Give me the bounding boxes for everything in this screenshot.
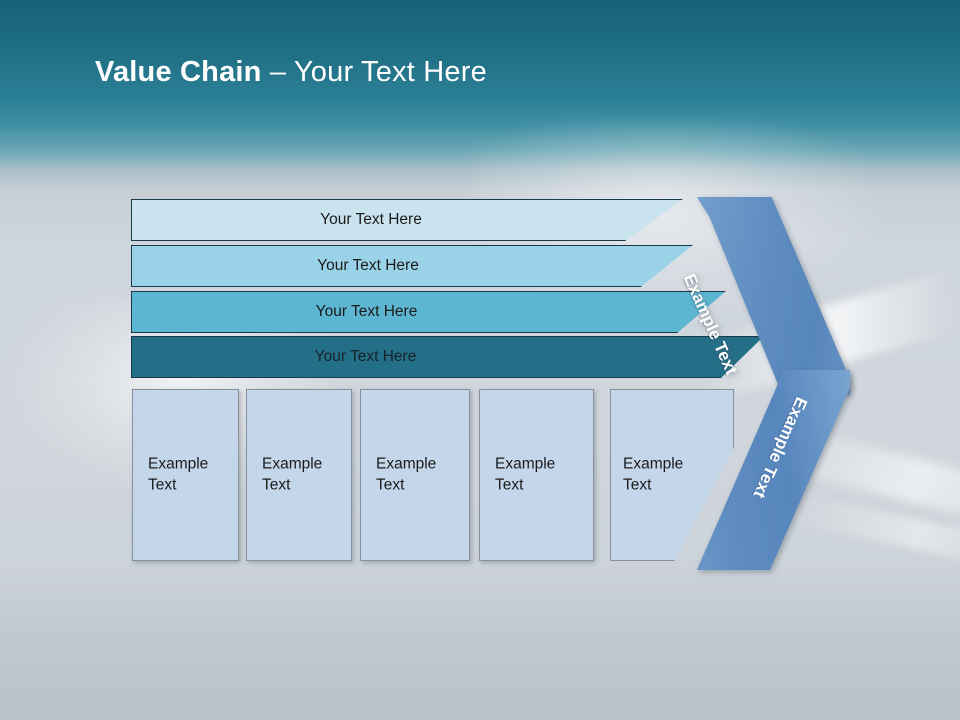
value-chain-box-4[interactable]: Example Text: [479, 389, 594, 561]
box-label: Example Text: [495, 454, 555, 495]
value-chain-diagram: Your Text Here Your Text Here Your Text …: [0, 0, 960, 720]
value-chain-box-1[interactable]: Example Text: [132, 389, 239, 561]
box-label: Example Text: [262, 454, 322, 495]
value-chain-box-3[interactable]: Example Text: [360, 389, 470, 561]
bar-label: Your Text Here: [132, 257, 692, 275]
bar-label: Your Text Here: [132, 303, 725, 321]
value-chain-arrow-upper[interactable]: Example Text: [672, 197, 850, 395]
value-chain-box-2[interactable]: Example Text: [246, 389, 352, 561]
bar-label: Your Text Here: [132, 211, 682, 229]
arrow-label: Example Text: [679, 271, 741, 378]
box-label: Example Text: [376, 454, 436, 495]
slide-canvas: Value Chain – Your Text Here Your Text H…: [0, 0, 960, 720]
box-label: Example Text: [148, 454, 208, 495]
value-chain-bar-1[interactable]: Your Text Here: [131, 199, 683, 241]
bar-label: Your Text Here: [132, 348, 763, 366]
value-chain-bar-2[interactable]: Your Text Here: [131, 245, 693, 287]
value-chain-bar-4[interactable]: Your Text Here: [131, 336, 764, 378]
value-chain-arrow-lower[interactable]: Example Text: [672, 370, 850, 570]
value-chain-bar-3[interactable]: Your Text Here: [131, 291, 726, 333]
